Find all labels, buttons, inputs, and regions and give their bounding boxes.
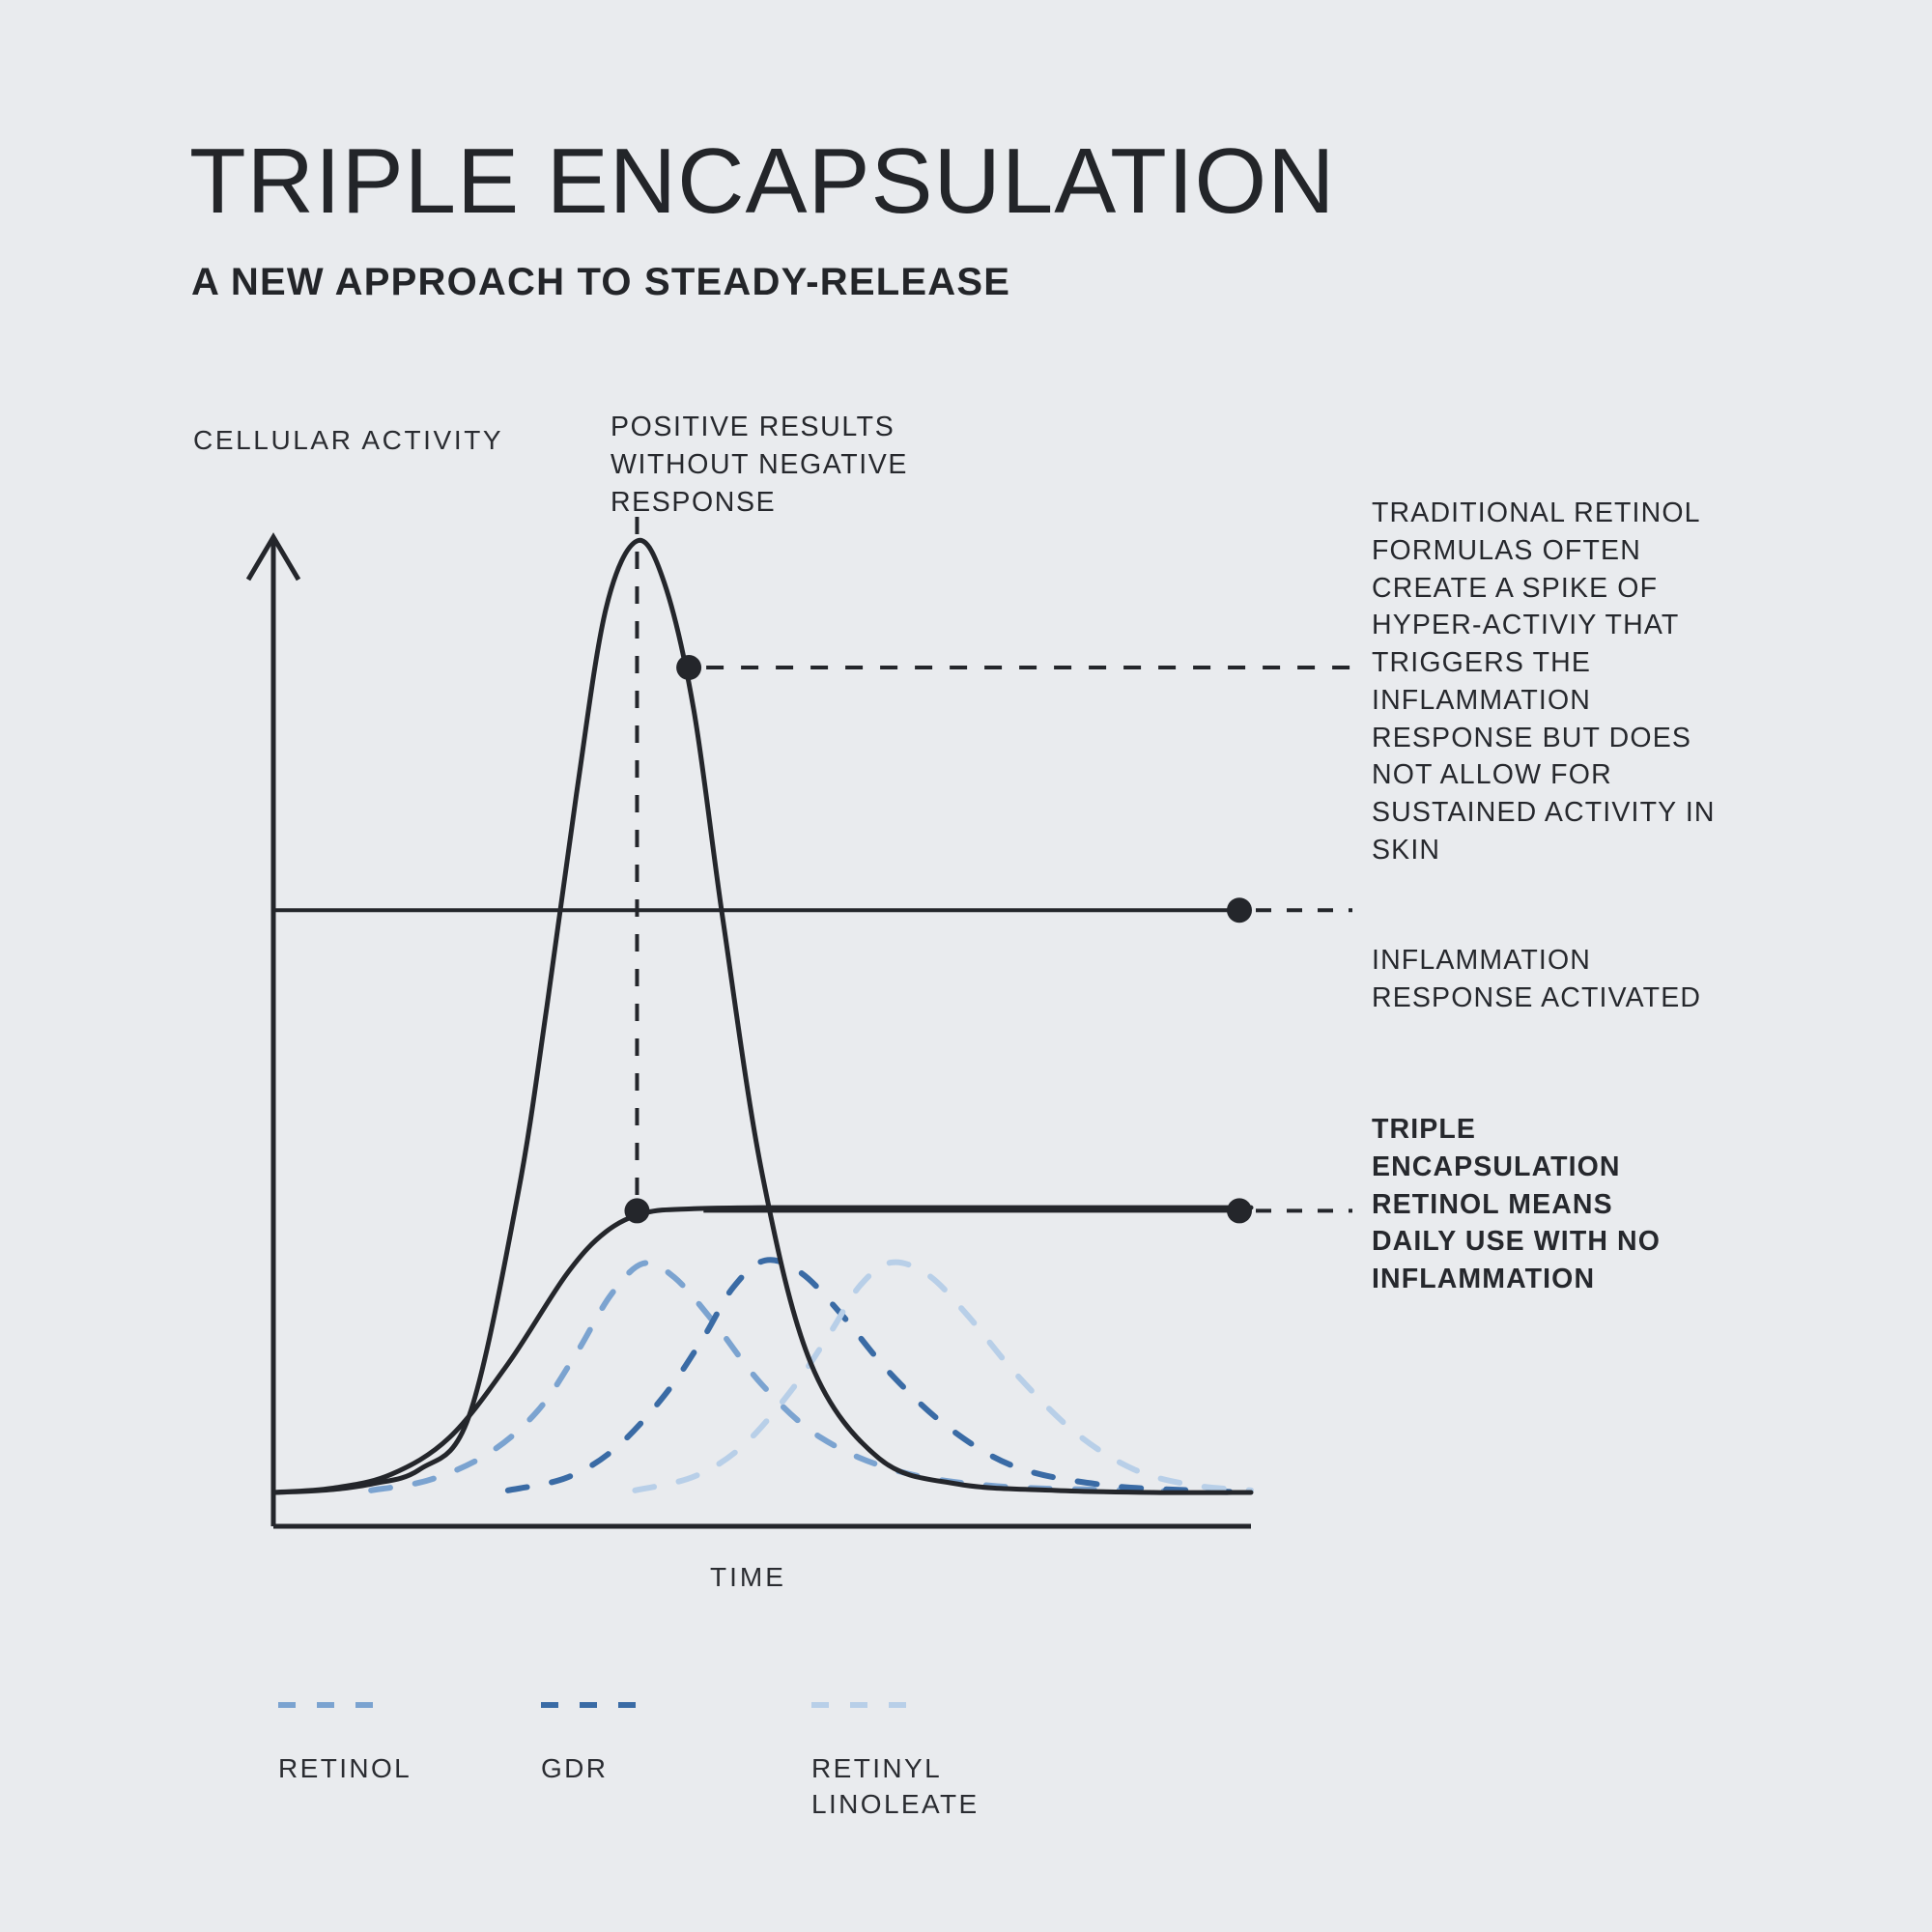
series-curve-traditional-spike	[273, 540, 1251, 1492]
triple-plateau-dot	[1227, 1198, 1252, 1223]
series-curve-triple-encapsulation	[273, 1207, 1251, 1492]
inflammation-threshold-dot	[1227, 897, 1252, 923]
traditional-spike-dot	[676, 655, 701, 680]
peak-marker-plateau-dot	[624, 1198, 649, 1223]
series-curve-retinol	[371, 1263, 1251, 1492]
infographic-canvas: TRIPLE ENCAPSULATION A NEW APPROACH TO S…	[0, 0, 1932, 1932]
series-curve-retinyl-linoleate	[635, 1263, 1251, 1491]
chart-plot	[0, 0, 1932, 1932]
